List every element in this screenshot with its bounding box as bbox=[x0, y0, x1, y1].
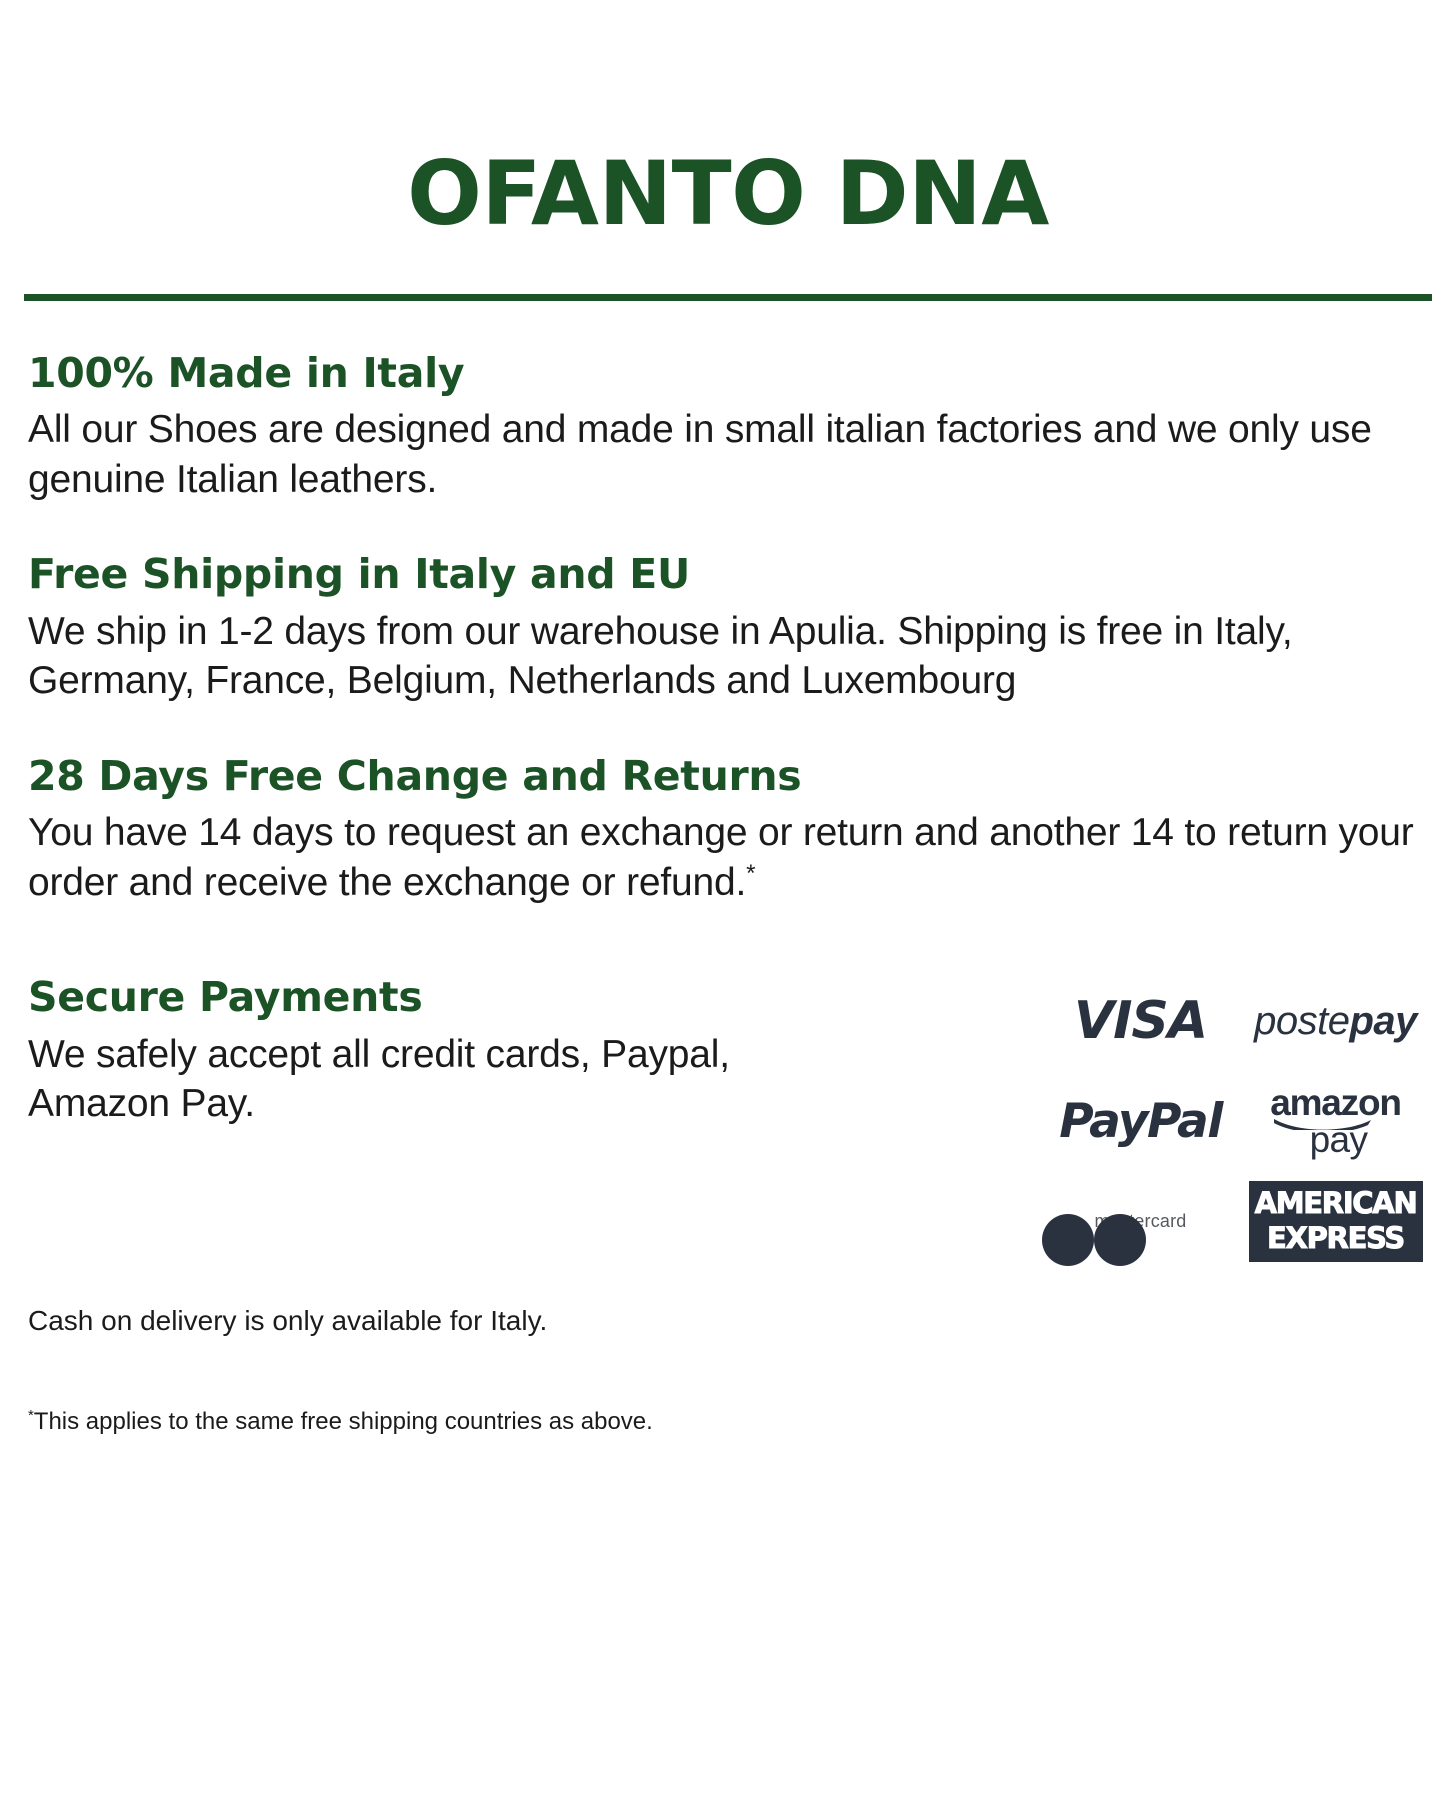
amex-label-line2: EXPRESS bbox=[1255, 1224, 1417, 1253]
page-title: OFANTO DNA bbox=[24, 0, 1432, 238]
content-area: 100% Made in Italy All our Shoes are des… bbox=[24, 349, 1432, 1437]
paypal-logo-icon: PayPal bbox=[1059, 1094, 1222, 1149]
payment-logo-paypal-cell: PayPal bbox=[1048, 1085, 1233, 1157]
section-body-secure-payments: We safely accept all credit cards, Paypa… bbox=[28, 1030, 858, 1129]
section-free-shipping: Free Shipping in Italy and EU We ship in… bbox=[28, 550, 1428, 705]
ofanto-dna-info-panel: OFANTO DNA 100% Made in Italy All our Sh… bbox=[0, 0, 1456, 1819]
section-body-made-in-italy: All our Shoes are designed and made in s… bbox=[28, 405, 1428, 504]
cash-on-delivery-note: Cash on delivery is only available for I… bbox=[28, 1303, 1428, 1339]
section-returns: 28 Days Free Change and Returns You have… bbox=[28, 752, 1428, 907]
returns-footnote-marker: * bbox=[746, 860, 755, 887]
mastercard-logo-icon: mastercard bbox=[1094, 1211, 1186, 1232]
section-body-returns-text: You have 14 days to request an exchange … bbox=[28, 811, 1414, 904]
footnote-text: This applies to the same free shipping c… bbox=[34, 1408, 653, 1435]
amazon-smile-icon bbox=[1272, 1117, 1376, 1130]
payments-text-block: Secure Payments We safely accept all cre… bbox=[28, 973, 858, 1128]
section-heading-made-in-italy: 100% Made in Italy bbox=[28, 349, 1428, 397]
footnote: *This applies to the same free shipping … bbox=[28, 1406, 1428, 1437]
mastercard-circle-left bbox=[1094, 1214, 1146, 1266]
payment-logo-amazon-pay-cell: amazon pay bbox=[1243, 1085, 1428, 1157]
section-body-free-shipping: We ship in 1-2 days from our warehouse i… bbox=[28, 607, 1428, 706]
postepay-logo-icon: postepay bbox=[1254, 999, 1417, 1044]
payment-logo-mastercard-cell: mastercard bbox=[1048, 1185, 1233, 1257]
payment-logo-amex-cell: AMERICAN EXPRESS bbox=[1243, 1185, 1428, 1257]
section-made-in-italy: 100% Made in Italy All our Shoes are des… bbox=[28, 349, 1428, 504]
amex-label-line1: AMERICAN bbox=[1255, 1189, 1417, 1218]
visa-logo-icon: VISA bbox=[1074, 991, 1207, 1051]
payment-logo-postepay-cell: postepay bbox=[1243, 985, 1428, 1057]
amazon-pay-logo-icon: amazon pay bbox=[1243, 1084, 1428, 1158]
section-heading-secure-payments: Secure Payments bbox=[28, 973, 858, 1021]
mastercard-circle-right bbox=[1042, 1214, 1094, 1266]
payment-logos-grid: VISA postepay PayPal amazon bbox=[1048, 985, 1428, 1257]
section-heading-free-shipping: Free Shipping in Italy and EU bbox=[28, 550, 1428, 598]
amex-logo-icon: AMERICAN EXPRESS bbox=[1249, 1181, 1423, 1262]
payments-row: Secure Payments We safely accept all cre… bbox=[28, 973, 1428, 1257]
payment-logo-visa-cell: VISA bbox=[1048, 985, 1233, 1057]
postepay-label-part1: poste bbox=[1254, 999, 1349, 1043]
section-body-returns: You have 14 days to request an exchange … bbox=[28, 808, 1428, 907]
section-heading-returns: 28 Days Free Change and Returns bbox=[28, 752, 1428, 800]
title-divider bbox=[24, 294, 1432, 301]
postepay-label-part2: pay bbox=[1349, 999, 1416, 1043]
amazon-wordmark: amazon bbox=[1270, 1084, 1401, 1121]
section-secure-payments: Secure Payments We safely accept all cre… bbox=[28, 973, 1428, 1257]
